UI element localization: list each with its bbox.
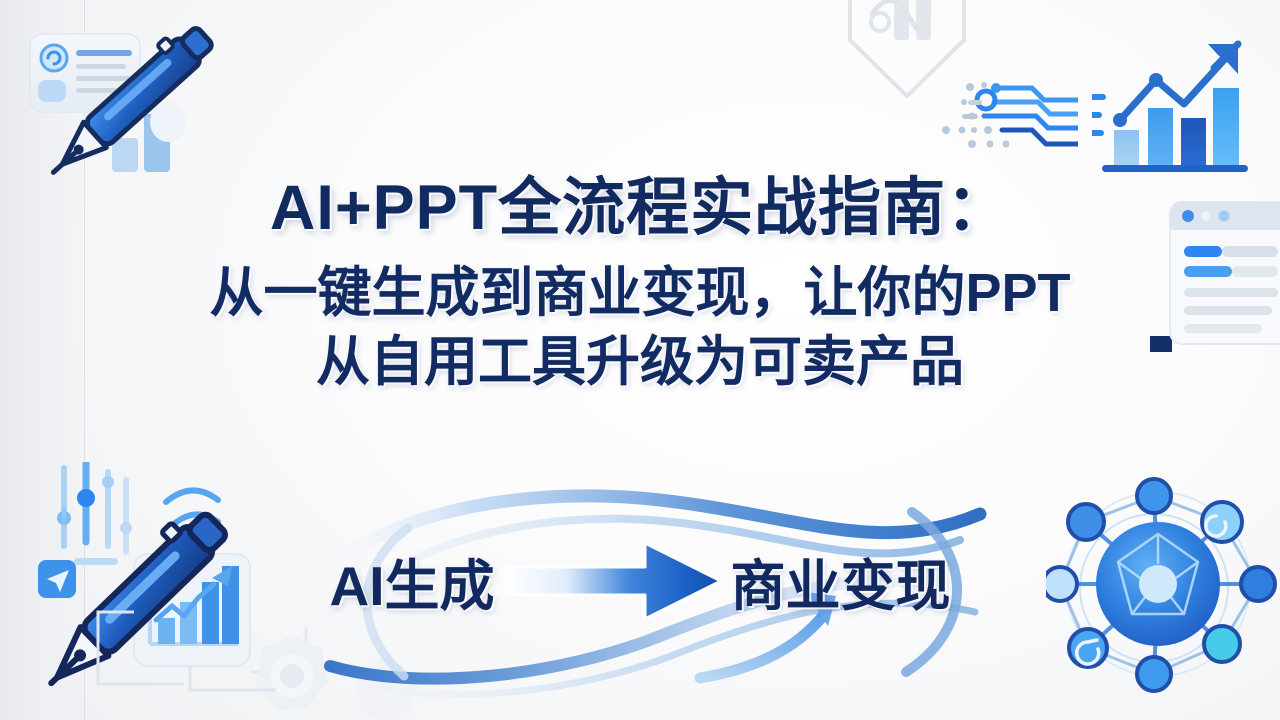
flow-left-label: AI生成 [329, 541, 494, 621]
flow-block: AI生成 商业变现 [0, 470, 1280, 700]
right-arrow-icon [501, 533, 725, 629]
slide-canvas: AI+PPT全流程实战指南： 从一键生成到商业变现，让你的PPT 从自用工具升级… [0, 0, 1280, 720]
flow-right-label: 商业变现 [731, 541, 951, 621]
title-block: AI+PPT全流程实战指南： 从一键生成到商业变现，让你的PPT 从自用工具升级… [0, 176, 1280, 395]
fountain-pen-document-icon [12, 10, 242, 200]
page-title: AI+PPT全流程实战指南： [0, 176, 1280, 242]
growth-bar-chart-icon [1092, 22, 1272, 192]
subtitle-line-2: 从自用工具升级为可卖产品 [0, 331, 1280, 395]
flow-row: AI生成 商业变现 [0, 526, 1280, 636]
subtitle-line-1: 从一键生成到商业变现，让你的PPT [0, 262, 1280, 326]
circuit-traces-icon [928, 74, 1078, 169]
